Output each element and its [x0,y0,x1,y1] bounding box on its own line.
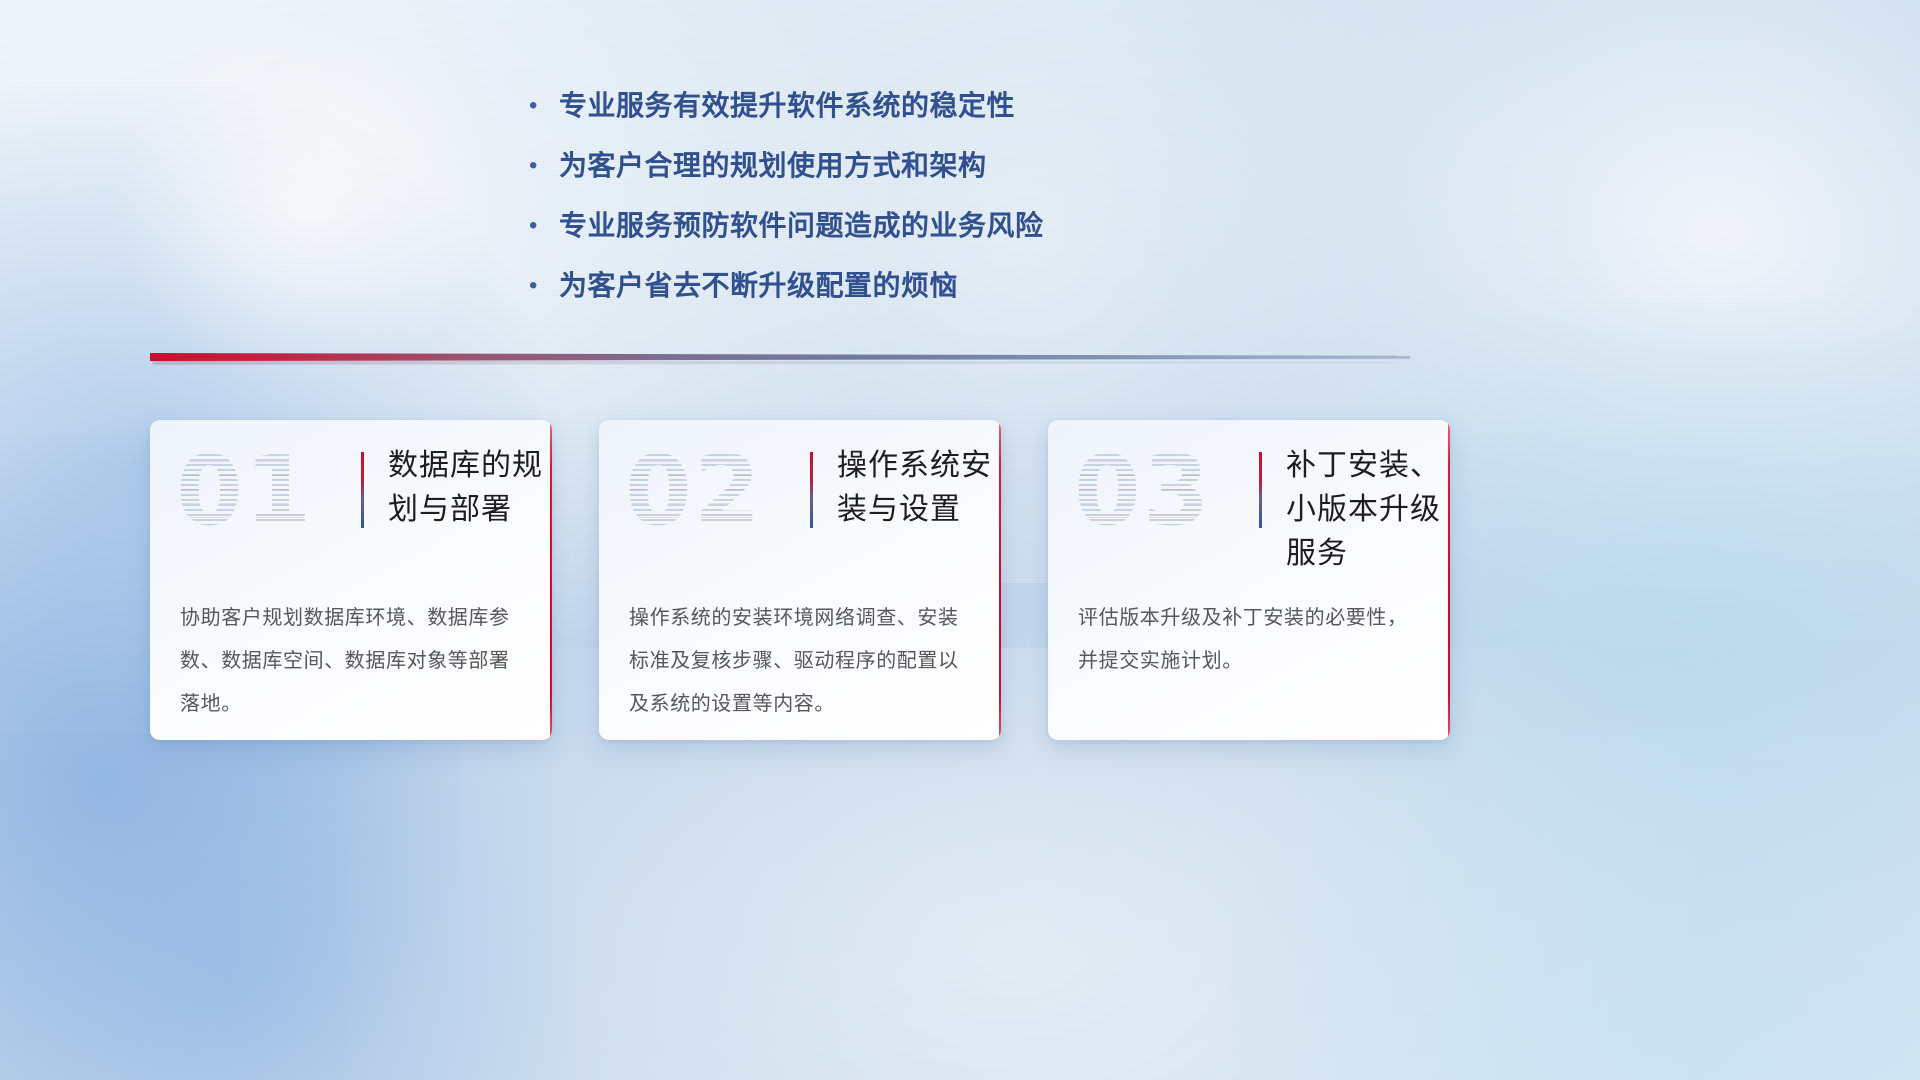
card-number-watermark-accent: 03 [1074,436,1254,546]
service-card-02[interactable]: 02 02 操作系统安装与设置 操作系统的安装环境网络调查、安装标准及复核步骤、… [599,420,1001,740]
divider-shadow [152,360,1399,365]
card-header: 02 02 操作系统安装与设置 [599,420,1001,580]
bullet-text: 为客户合理的规划使用方式和架构 [559,148,987,184]
card-number-watermark-accent: 01 [176,436,356,546]
bullet-dot-icon: • [525,268,559,304]
list-item: • 为客户省去不断升级配置的烦恼 [525,268,1165,304]
list-item: • 专业服务预防软件问题造成的业务风险 [525,208,1165,244]
service-card-03[interactable]: 03 03 补丁安装、小版本升级服务 评估版本升级及补丁安装的必要性，并提交实施… [1048,420,1450,740]
card-number-watermark-accent: 02 [625,436,805,546]
bullet-text: 专业服务预防软件问题造成的业务风险 [559,208,1044,244]
list-item: • 为客户合理的规划使用方式和架构 [525,148,1165,184]
card-title-rule [361,452,364,528]
divider-line [150,353,1410,361]
bullet-dot-icon: • [525,88,559,124]
list-item: • 专业服务有效提升软件系统的稳定性 [525,88,1165,124]
bullet-dot-icon: • [525,148,559,184]
card-title-rule [1259,452,1262,528]
card-description: 评估版本升级及补丁安装的必要性，并提交实施计划。 [1078,596,1428,682]
card-description: 操作系统的安装环境网络调查、安装标准及复核步骤、驱动程序的配置以及系统的设置等内… [629,596,979,725]
service-card-01[interactable]: 01 01 数据库的规划与部署 协助客户规划数据库环境、数据库参数、数据库空间、… [150,420,552,740]
card-title: 数据库的规划与部署 [388,444,548,532]
section-divider [150,349,1410,365]
card-header: 03 03 补丁安装、小版本升级服务 [1048,420,1450,580]
card-header: 01 01 数据库的规划与部署 [150,420,552,580]
card-title: 补丁安装、小版本升级服务 [1286,444,1446,576]
service-card-row: 01 01 数据库的规划与部署 协助客户规划数据库环境、数据库参数、数据库空间、… [150,420,1450,740]
card-title-rule [810,452,813,528]
bullet-dot-icon: • [525,208,559,244]
bullet-text: 为客户省去不断升级配置的烦恼 [559,268,958,304]
card-title: 操作系统安装与设置 [837,444,997,532]
benefits-bullet-list: • 专业服务有效提升软件系统的稳定性 • 为客户合理的规划使用方式和架构 • 专… [525,88,1165,328]
bullet-text: 专业服务有效提升软件系统的稳定性 [559,88,1015,124]
card-description: 协助客户规划数据库环境、数据库参数、数据库空间、数据库对象等部署落地。 [180,596,530,725]
